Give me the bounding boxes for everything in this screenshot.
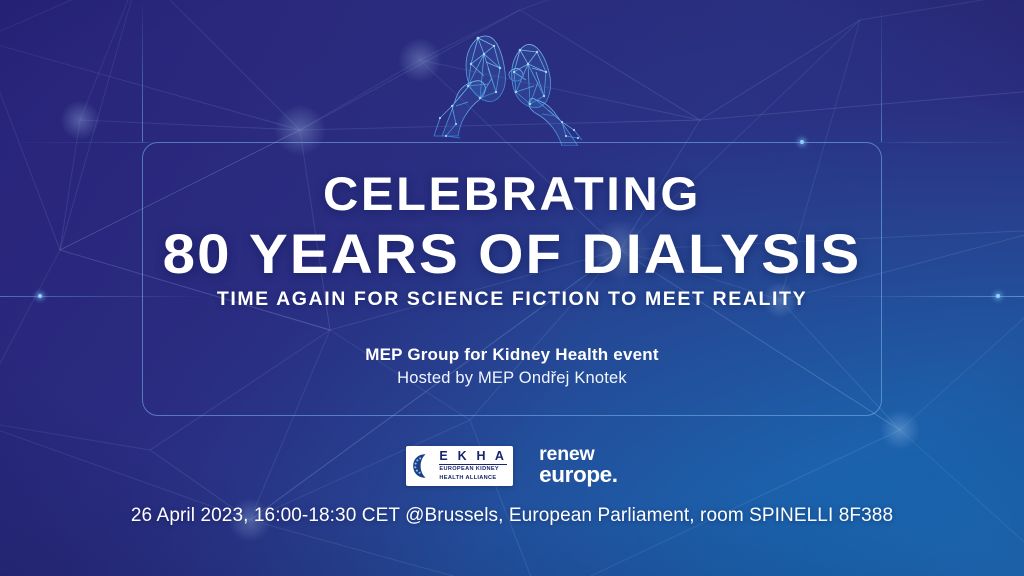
renew-europe-line-2: europe. <box>539 464 617 487</box>
subheadline: TIME AGAIN FOR SCIENCE FICTION TO MEET R… <box>0 288 1024 311</box>
logo-row: E K H A EUROPEAN KIDNEY HEALTH ALLIANCE … <box>0 443 1024 489</box>
ekha-subtitle-line-2: HEALTH ALLIANCE <box>439 475 507 482</box>
event-organiser: MEP Group for Kidney Health event <box>0 345 1024 365</box>
event-host: Hosted by MEP Ondřej Knotek <box>0 369 1024 388</box>
low-poly-kidneys-icon <box>416 6 608 146</box>
headline-line-1: CELEBRATING <box>0 170 1024 217</box>
kidney-stars-icon <box>410 453 434 479</box>
renew-europe-line-1: renew <box>539 443 594 465</box>
ekha-subtitle-line-1: EUROPEAN KIDNEY <box>439 466 507 473</box>
frame-right-extension-line <box>881 0 882 142</box>
poster-canvas: CELEBRATING 80 YEARS OF DIALYSIS TIME AG… <box>0 0 1024 576</box>
ekha-logo: E K H A EUROPEAN KIDNEY HEALTH ALLIANCE <box>406 446 513 487</box>
frame-left-extension-line <box>142 0 143 142</box>
headline-block: CELEBRATING 80 YEARS OF DIALYSIS <box>0 170 1024 282</box>
ekha-wordmark: E K H A EUROPEAN KIDNEY HEALTH ALLIANCE <box>439 450 507 483</box>
headline-line-2: 80 YEARS OF DIALYSIS <box>0 226 1024 282</box>
renew-europe-logo: renew europe. <box>539 445 617 488</box>
event-details-footer: 26 April 2023, 16:00-18:30 CET @Brussels… <box>0 505 1024 527</box>
ekha-acronym: E K H A <box>439 450 507 465</box>
